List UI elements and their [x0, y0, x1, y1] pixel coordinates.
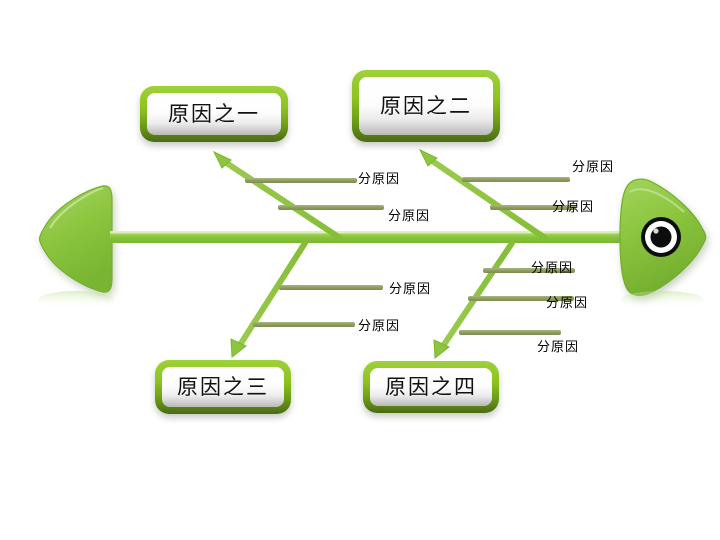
cause-box-2-panel: 原因之二: [359, 77, 493, 135]
fishbone-diagram-canvas: 原因之一 原因之二 原因之三 原因之四 分原因 分原因 分原因 分原因 分原因 …: [0, 0, 720, 540]
sub-bone-6: [253, 322, 355, 327]
fish-head: [620, 179, 706, 295]
sub-cause-label-8: 分原因: [546, 296, 588, 309]
cause-box-1-panel: 原因之一: [147, 93, 281, 135]
tail-reflection: [38, 291, 114, 309]
cause-box-4-panel: 原因之四: [370, 368, 492, 406]
cause-box-2-label: 原因之二: [380, 96, 472, 117]
cause-box-1[interactable]: 原因之一: [140, 86, 288, 142]
sub-cause-label-1: 分原因: [358, 172, 400, 185]
cause-box-3[interactable]: 原因之三: [155, 360, 291, 414]
sub-bone-1: [245, 178, 357, 183]
fish-tail: [40, 186, 113, 292]
bone-cause-2: [420, 150, 545, 238]
sub-cause-label-5: 分原因: [389, 282, 431, 295]
head-reflection: [620, 291, 704, 309]
sub-bone-5: [279, 285, 383, 290]
fish-spine: [110, 231, 630, 243]
bone-cause-3: [231, 243, 305, 357]
sub-cause-label-2: 分原因: [388, 209, 430, 222]
cause-box-1-label: 原因之一: [168, 104, 260, 125]
sub-cause-label-3: 分原因: [572, 160, 614, 173]
sub-cause-label-7: 分原因: [531, 261, 573, 274]
cause-box-4[interactable]: 原因之四: [363, 361, 499, 413]
sub-cause-label-4: 分原因: [552, 200, 594, 213]
sub-bone-2: [278, 205, 384, 210]
sub-cause-label-6: 分原因: [358, 319, 400, 332]
fish-eye: [641, 217, 681, 257]
cause-box-3-label: 原因之三: [177, 377, 269, 398]
cause-box-3-panel: 原因之三: [162, 367, 284, 407]
cause-box-2[interactable]: 原因之二: [352, 70, 500, 142]
sub-cause-label-9: 分原因: [537, 340, 579, 353]
sub-bone-3: [462, 177, 570, 182]
sub-bone-9: [459, 330, 561, 335]
cause-box-4-label: 原因之四: [385, 377, 477, 398]
bone-cause-1: [214, 152, 340, 238]
